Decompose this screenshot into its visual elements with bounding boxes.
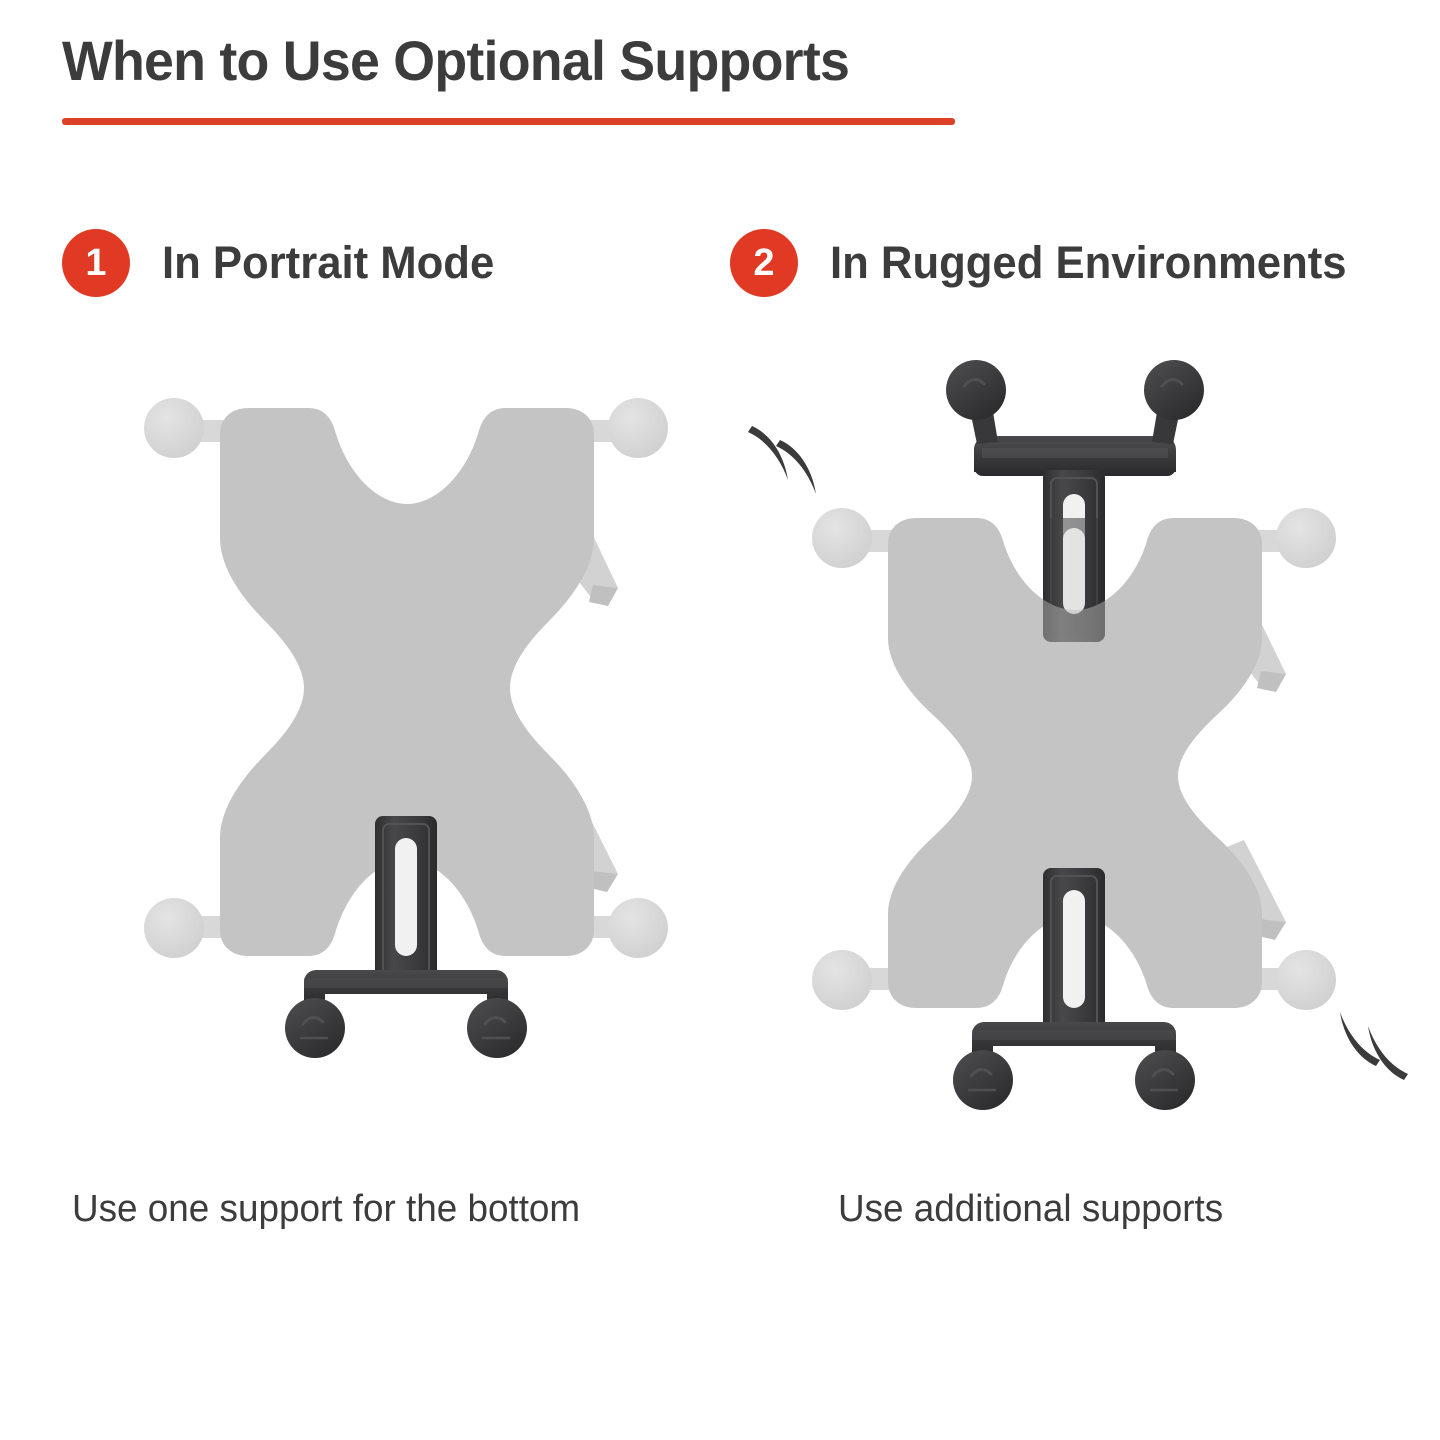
page-title: When to Use Optional Supports bbox=[62, 28, 849, 93]
step-heading: In Portrait Mode bbox=[162, 237, 494, 289]
step-header-2: 2 In Rugged Environments bbox=[730, 228, 1363, 298]
step-number-badge: 1 bbox=[62, 229, 130, 297]
step-number-badge: 2 bbox=[730, 229, 798, 297]
step-header-1: 1 In Portrait Mode bbox=[62, 228, 505, 298]
ball-foot-icon bbox=[953, 1050, 1013, 1110]
ball-foot-icon bbox=[1135, 1050, 1195, 1110]
step-heading: In Rugged Environments bbox=[830, 237, 1347, 289]
vibration-arc-icon-top-left bbox=[748, 426, 816, 494]
title-divider bbox=[62, 118, 955, 125]
panel-caption: Use additional supports bbox=[838, 1188, 1223, 1231]
panel-portrait-mode: 1 In Portrait Mode bbox=[62, 228, 752, 1328]
figure-portrait-mode bbox=[62, 338, 752, 1158]
ball-foot-icon bbox=[1144, 360, 1204, 420]
ball-foot-icon bbox=[467, 998, 527, 1058]
vibration-arc-icon-bottom-right bbox=[1340, 1012, 1408, 1080]
support-post-overlay-top bbox=[1043, 518, 1105, 642]
ball-foot-icon bbox=[946, 360, 1006, 420]
figure-rugged-environments bbox=[730, 338, 1420, 1158]
ball-foot-icon bbox=[285, 998, 345, 1058]
panel-caption: Use one support for the bottom bbox=[72, 1188, 580, 1231]
panel-rugged-environments: 2 In Rugged Environments bbox=[730, 228, 1420, 1328]
